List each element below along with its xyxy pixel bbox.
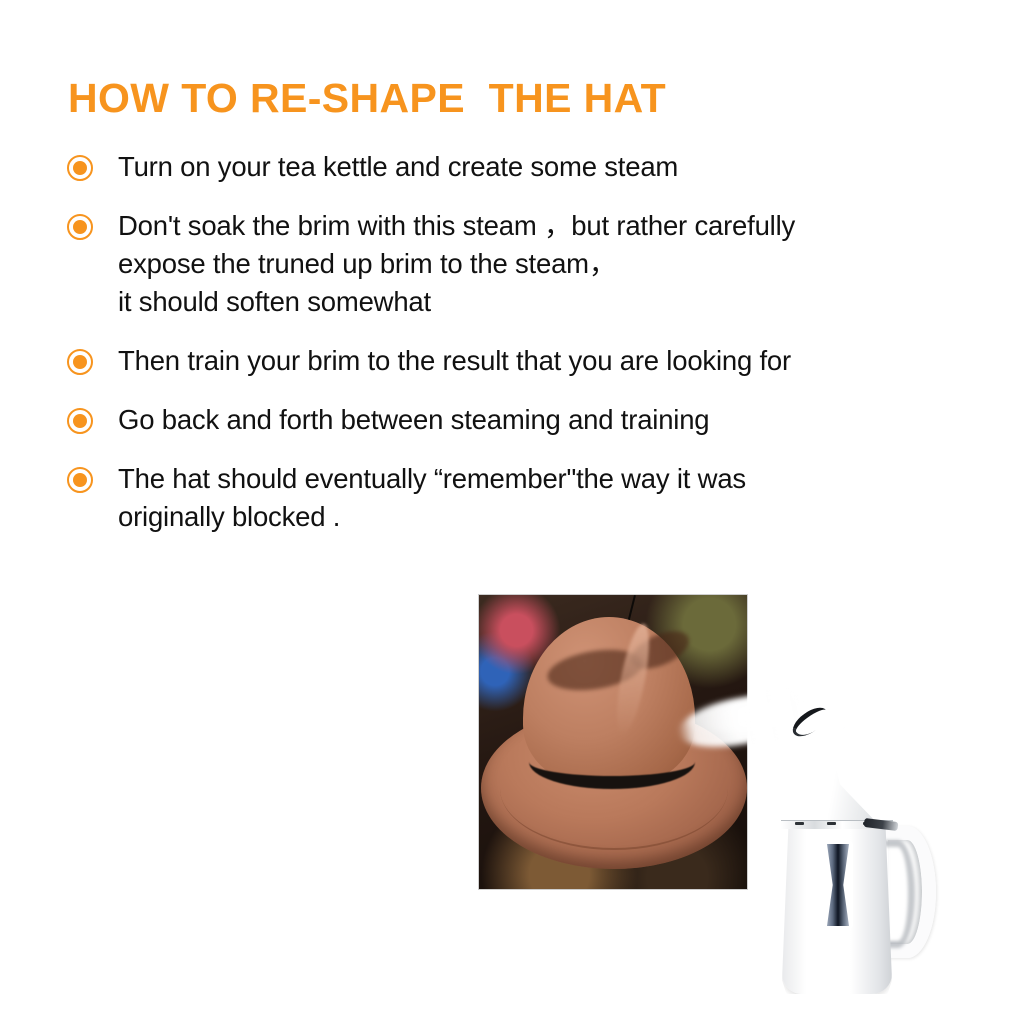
list-item: Don't soak the brim with this steam ，but… <box>64 207 964 321</box>
ring-bullet-icon <box>67 214 93 240</box>
ring-bullet-icon <box>67 408 93 434</box>
poster-canvas: HOW TO RE-SHAPE THE HAT Turn on your tea… <box>0 0 1024 1024</box>
list-item-text: Don't soak the brim with this steam ，but… <box>118 207 964 321</box>
ring-bullet-icon <box>67 349 93 375</box>
page-title: HOW TO RE-SHAPE THE HAT <box>68 74 666 122</box>
handheld-garment-steamer <box>746 700 966 1000</box>
steamer-water-level-window <box>825 842 851 928</box>
list-item: Go back and forth between steaming and t… <box>64 401 964 439</box>
hat-band <box>529 735 695 789</box>
list-item-text: Go back and forth between steaming and t… <box>118 401 964 439</box>
list-item-text: Then train your brim to the result that … <box>118 342 964 380</box>
collar-clip-left <box>795 822 804 825</box>
list-item-text: The hat should eventually “remember"the … <box>118 460 964 536</box>
list-item: Then train your brim to the result that … <box>64 342 964 380</box>
list-item-text: Turn on your tea kettle and create some … <box>118 148 964 186</box>
instructions-list: Turn on your tea kettle and create some … <box>64 148 964 557</box>
ring-bullet-icon <box>67 467 93 493</box>
collar-clip-middle <box>827 822 836 825</box>
list-item: Turn on your tea kettle and create some … <box>64 148 964 186</box>
list-item: The hat should eventually “remember"the … <box>64 460 964 536</box>
ring-bullet-icon <box>67 155 93 181</box>
